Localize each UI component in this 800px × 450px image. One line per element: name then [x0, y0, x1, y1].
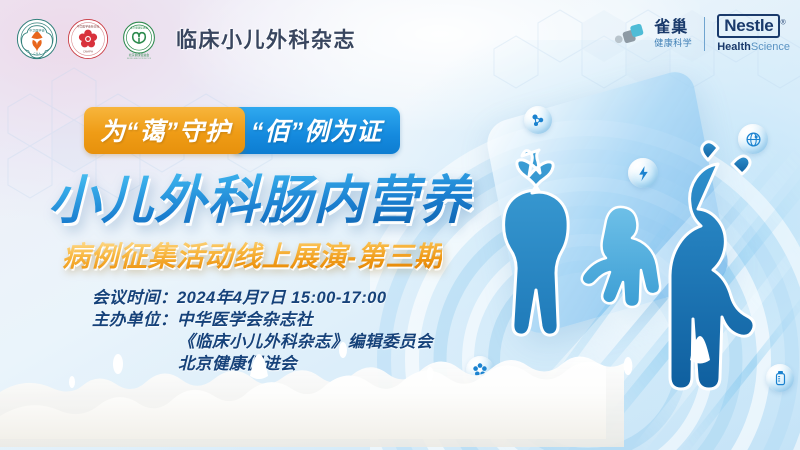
organizer-logo-row: 中华医学会 C M A 中华医学会杂志社 CMAPH [16, 18, 160, 60]
science-word: Science [751, 41, 790, 53]
banner-orange-segment: 为“蔼”守护 [84, 107, 245, 154]
organizer-name-1: 中华医学会杂志社 [177, 311, 313, 329]
chinese-medical-association-logo: 中华医学会 C M A [16, 18, 58, 60]
svg-text:C M A: C M A [34, 52, 41, 55]
webinar-poster: 中华医学会 C M A 中华医学会杂志社 CMAPH [0, 0, 800, 450]
svg-text:BEIJING HEALTH PROMOTION: BEIJING HEALTH PROMOTION [127, 57, 152, 60]
poster-header: 中华医学会 C M A 中华医学会杂志社 CMAPH [0, 0, 800, 78]
child-silhouette-center [582, 207, 660, 307]
child-silhouette-right [670, 142, 754, 389]
background-tint-right [380, 40, 800, 440]
lightning-icon [636, 165, 651, 182]
globe-icon [745, 131, 762, 148]
svg-text:北京健康促进会: 北京健康促进会 [130, 26, 148, 30]
nestle-chinese-name: 雀巢 健康科学 [654, 20, 692, 48]
registered-mark: ® [780, 20, 785, 27]
bubble-flower-icon [466, 356, 494, 384]
bubble-dna-icon [554, 406, 580, 432]
molecule-icon [530, 112, 546, 128]
nestle-english-name: Nestle® HealthScience [717, 14, 790, 53]
banner-orange-text: 为“蔼”守护 [100, 118, 231, 146]
meeting-details: 会议时间：2024年4月7日 15:00-17:00 主办单位：中华医学会杂志社… [92, 287, 433, 375]
cmaph-logo: 中华医学会杂志社 CMAPH [67, 18, 109, 60]
rotated-card-decoration [484, 67, 732, 338]
bubble-bottle-icon [766, 364, 794, 392]
headline-banner: 为“蔼”守护 “佰”例为证 [84, 107, 400, 154]
flower-icon [472, 362, 488, 378]
organizer-line-1: 主办单位：中华医学会杂志社 [92, 309, 433, 331]
banner-blue-segment: “佰”例为证 [231, 107, 400, 154]
child-silhouette-left [504, 150, 569, 335]
meeting-time-value: 2024年4月7日 15:00-17:00 [177, 289, 387, 307]
meeting-time-label: 会议时间： [92, 289, 177, 307]
dna-icon [560, 412, 574, 426]
main-title: 小儿外科肠内营养 [48, 158, 472, 233]
health-word: Health [717, 41, 751, 53]
nestle-capsule-icon [614, 21, 648, 47]
svg-text:北京健康促进会: 北京健康促进会 [129, 52, 150, 57]
organizer-label: 主办单位： [92, 311, 177, 329]
bottle-icon [773, 370, 788, 386]
logo-divider [704, 17, 705, 51]
bubble-globe-icon [738, 124, 768, 154]
organizer-line-3: 北京健康促进会 [92, 353, 433, 375]
svg-text:中华医学会: 中华医学会 [29, 27, 44, 32]
nestle-wordmark: Nestle [717, 14, 780, 38]
sub-title: 病例征集活动线上展演-第三期 [62, 235, 442, 275]
beijing-health-promotion-logo: 北京健康促进会 北京健康促进会 BEIJING HEALTH PROMOTION [118, 18, 160, 60]
journal-title: 临床小儿外科杂志 [176, 24, 356, 54]
bubble-lightning-icon [628, 158, 658, 188]
bubble-molecule-icon [524, 106, 552, 134]
nestle-cn-sub: 健康科学 [654, 39, 692, 48]
meeting-time-line: 会议时间：2024年4月7日 15:00-17:00 [92, 287, 433, 309]
nestle-cn-main: 雀巢 [654, 20, 692, 36]
svg-text:CMAPH: CMAPH [83, 49, 93, 53]
health-science-wordmark: HealthScience [717, 42, 790, 53]
light-rays-decoration [480, 150, 800, 450]
svg-text:中华医学会杂志社: 中华医学会杂志社 [77, 25, 100, 29]
nestle-health-science-logo: 雀巢 健康科学 Nestle® HealthScience [614, 14, 790, 53]
banner-blue-text: “佰”例为证 [251, 112, 382, 148]
organizer-line-2: 《临床小儿外科杂志》编辑委员会 [92, 331, 433, 353]
